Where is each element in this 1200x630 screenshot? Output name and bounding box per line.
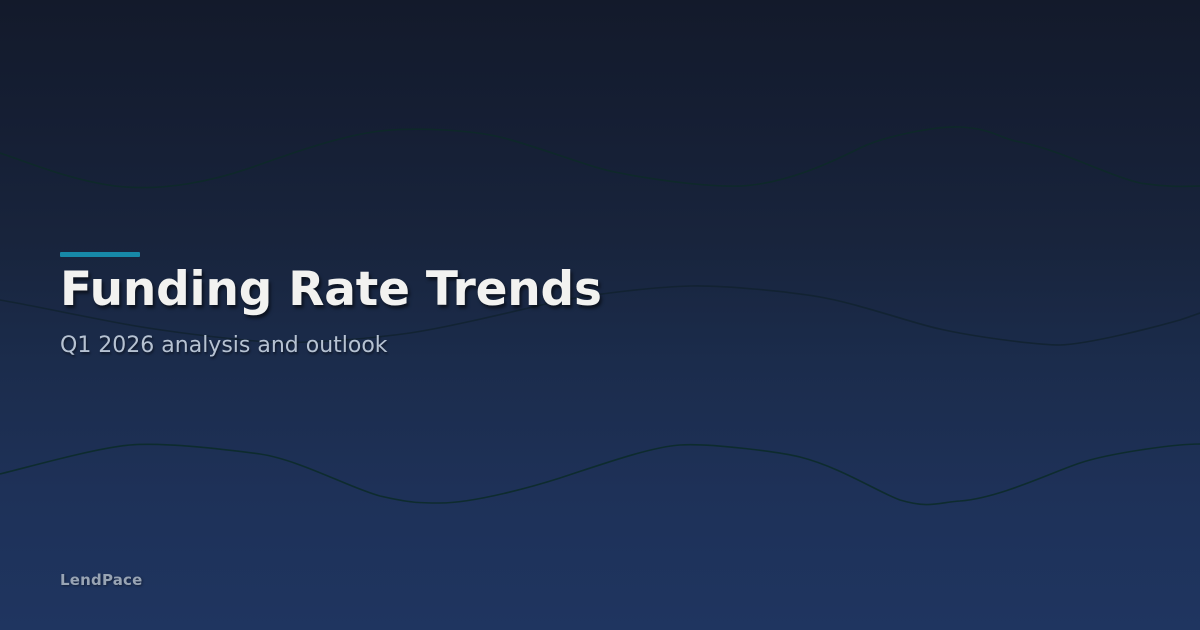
page-title: Funding Rate Trends xyxy=(60,266,602,313)
footer-brand-label: LendPace xyxy=(60,571,143,589)
accent-rule xyxy=(60,252,140,257)
page-subtitle: Q1 2026 analysis and outlook xyxy=(60,334,388,358)
title-slide: Funding Rate Trends Q1 2026 analysis and… xyxy=(0,0,1200,630)
slide-content: Funding Rate Trends Q1 2026 analysis and… xyxy=(60,0,1140,630)
